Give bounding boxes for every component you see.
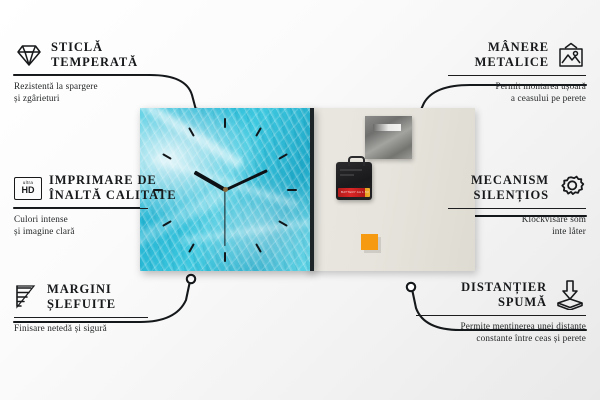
callout-foam-spacer: DISTANȚIER SPUMĂ Permite menținerea unei… <box>400 280 586 345</box>
battery-label: BATTERY AA 1.5V <box>341 190 369 194</box>
callout-rule <box>448 75 586 77</box>
callout-rule <box>416 315 586 317</box>
diamond-icon <box>14 43 44 68</box>
hanger-slot <box>373 124 401 131</box>
callout-title: STICLĂ TEMPERATĂ <box>51 40 138 71</box>
ultra-hd-badge-icon: ultra HD <box>14 177 42 200</box>
callout-subtitle: Rezistentă la spargere și zgârieturi <box>14 80 174 105</box>
clock-tick <box>224 252 226 262</box>
clock-tick <box>287 189 297 191</box>
callout-hd-print: ultra HD IMPRIMARE DE ÎNALTĂ CALITATE Cu… <box>14 173 186 238</box>
aa-battery: BATTERY AA 1.5V <box>338 188 370 197</box>
clock-second-hand <box>224 190 225 246</box>
polished-edge-lines-icon <box>14 285 40 309</box>
clock-hour-hand <box>194 170 226 191</box>
callout-rule <box>448 208 586 210</box>
callout-polished-edges: MARGINI ȘLEFUITE Finisare netedă și sigu… <box>14 282 179 334</box>
callout-title: DISTANȚIER SPUMĂ <box>461 280 547 311</box>
clock-tick <box>278 153 288 160</box>
clock-tick <box>224 118 226 128</box>
clock-tick <box>188 127 195 137</box>
callout-rule <box>14 317 148 319</box>
callout-title: MARGINI ȘLEFUITE <box>47 282 116 313</box>
clock-tick <box>278 220 288 227</box>
callout-rule <box>14 208 148 210</box>
callout-subtitle: Permit montarea ușoară a ceasului pe per… <box>416 80 586 105</box>
clock-tick <box>255 127 262 137</box>
infographic-canvas: BATTERY AA 1.5V <box>0 0 600 400</box>
metal-hanger-bracket <box>365 116 412 159</box>
picture-frame-hanger-icon <box>556 42 586 69</box>
gear-icon <box>556 174 586 202</box>
clock-tick <box>162 153 172 160</box>
callout-title: IMPRIMARE DE ÎNALTĂ CALITATE <box>49 173 177 204</box>
callout-subtitle: Culori intense și imagine clară <box>14 213 186 238</box>
callout-subtitle: Finisare netedă și sigură <box>14 322 179 334</box>
callout-metal-handles: MÂNERE METALICE Permit montarea ușoară a… <box>416 40 586 105</box>
clock-center-pin <box>223 187 228 192</box>
connector-dot-polished-edges <box>187 275 195 283</box>
callout-title: MECANISM SILENȚIOS <box>471 173 549 204</box>
clock-tick <box>255 243 262 253</box>
callout-silent-mechanism: MECANISM SILENȚIOS Klockvisare som inte … <box>416 173 586 238</box>
callout-subtitle: Permite menținerea unei distanțe constan… <box>400 320 586 345</box>
movement-detail-1 <box>340 169 362 171</box>
arrow-onto-pad-icon <box>554 280 586 310</box>
callout-title: MÂNERE METALICE <box>475 40 549 71</box>
clock-minute-hand <box>224 169 267 191</box>
movement-hook <box>348 156 365 166</box>
callout-tempered-glass: STICLĂ TEMPERATĂ Rezistentă la spargere … <box>14 40 174 105</box>
callout-rule <box>14 75 148 77</box>
quartz-movement-box: BATTERY AA 1.5V <box>336 162 372 200</box>
clock-tick <box>188 243 195 253</box>
foam-spacer-pad <box>361 234 378 250</box>
movement-detail-2 <box>340 174 354 176</box>
callout-subtitle: Klockvisare som inte låter <box>416 213 586 238</box>
